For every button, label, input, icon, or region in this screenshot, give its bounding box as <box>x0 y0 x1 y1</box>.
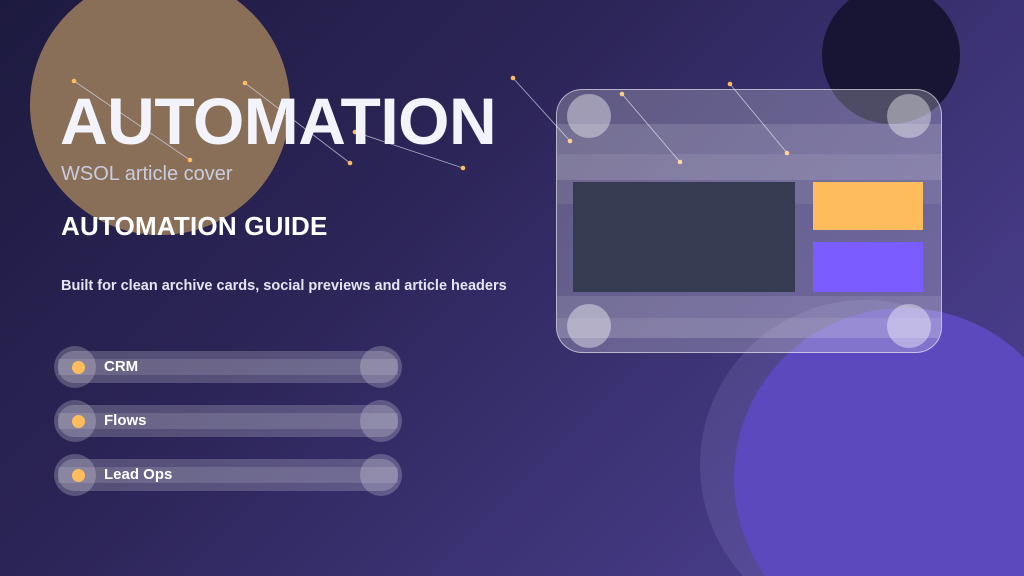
card-stripe-6 <box>557 338 941 353</box>
connector-dot-3-0 <box>511 76 516 81</box>
tag-pill-lead-ops[interactable]: Lead Ops <box>58 459 398 491</box>
page-description: Built for clean archive cards, social pr… <box>61 278 507 294</box>
card-corner-node-bottom-right <box>887 304 931 348</box>
card-swatch-violet <box>813 242 923 292</box>
tag-pill-crm[interactable]: CRM <box>58 351 398 383</box>
pill-status-dot-icon <box>72 415 85 428</box>
card-preview-panel <box>573 182 795 292</box>
connector-dot-0-1 <box>188 158 193 163</box>
tag-pill-flows[interactable]: Flows <box>58 405 398 437</box>
pill-cap-right-icon <box>360 400 402 442</box>
page-subtitle: AUTOMATION GUIDE <box>61 211 328 242</box>
pill-cap-right-icon <box>360 454 402 496</box>
page-kicker: WSOL article cover <box>61 163 233 186</box>
card-stripe-5 <box>557 318 941 338</box>
connector-dot-2-1 <box>461 166 466 171</box>
cover-canvas: AUTOMATION WSOL article cover AUTOMATION… <box>0 0 1024 576</box>
card-corner-node-bottom-left <box>567 304 611 348</box>
page-title: AUTOMATION <box>60 88 496 154</box>
card-corner-node-top-right <box>887 94 931 138</box>
connector-dot-5-0 <box>728 82 733 87</box>
connector-dot-0-0 <box>72 79 77 84</box>
card-stripe-2 <box>557 154 941 180</box>
card-stripe-4 <box>557 296 941 318</box>
card-corner-node-top-left <box>567 94 611 138</box>
card-mockup <box>556 89 942 353</box>
card-stripe-0 <box>557 90 941 124</box>
pill-status-dot-icon <box>72 469 85 482</box>
pill-label: Flows <box>104 412 147 429</box>
pill-status-dot-icon <box>72 361 85 374</box>
card-stripe-1 <box>557 124 941 154</box>
connector-dot-1-1 <box>348 161 353 166</box>
pill-label: Lead Ops <box>104 466 172 483</box>
card-swatch-orange <box>813 182 923 230</box>
pill-cap-right-icon <box>360 346 402 388</box>
pill-label: CRM <box>104 358 138 375</box>
